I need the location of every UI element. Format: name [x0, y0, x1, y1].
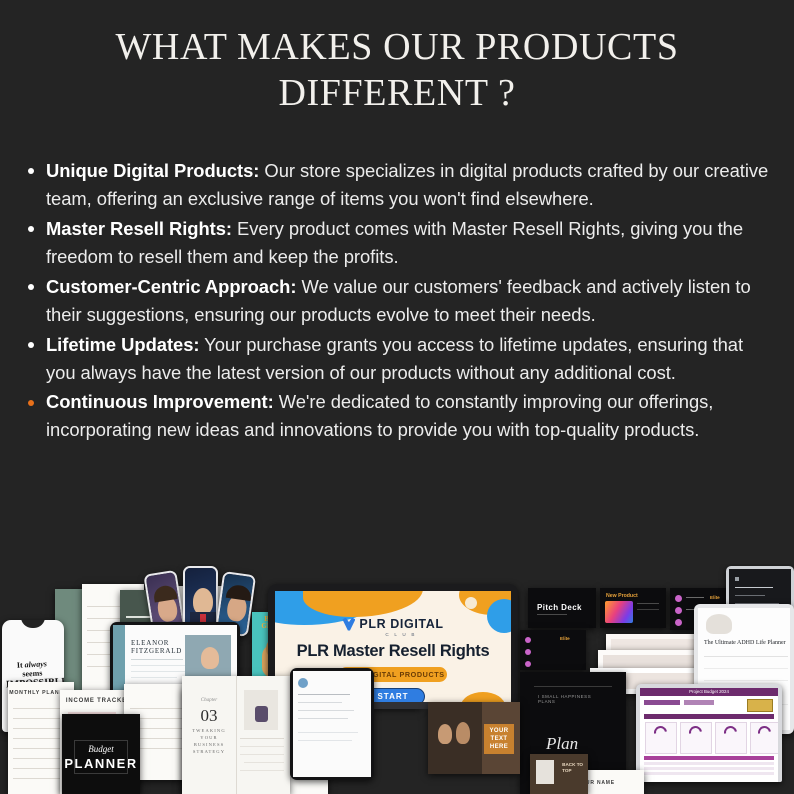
collage-slide-pitch-deck: Pitch Deck — [528, 588, 596, 628]
collage-spreadsheet-title: Project Budget 2024 — [689, 689, 729, 694]
plr-logo-word: PLR DIGITAL — [359, 617, 443, 631]
collage-spreadsheet-screen: Project Budget 2024 — [640, 688, 778, 782]
list-item: Continuous Improvement: We're dedicated … — [22, 388, 772, 444]
title-line-2: DIFFERENT ? — [0, 70, 794, 116]
plr-mark-icon — [342, 618, 355, 631]
list-item-lead: Lifetime Updates: — [46, 334, 199, 355]
bullet-marker-icon — [28, 226, 34, 232]
bullet-marker-icon — [28, 168, 34, 174]
title-line-1: WHAT MAKES OUR PRODUCTS — [0, 24, 794, 70]
list-item-lead: Continuous Improvement: — [46, 391, 274, 412]
bullet-marker-icon — [28, 284, 34, 290]
collage-gradient-card — [605, 601, 633, 623]
collage-magazine-name: ELEANOR FITZGERALD — [131, 639, 189, 656]
collage-slide-title: Pitch Deck — [537, 603, 582, 612]
feature-list: Unique Digital Products: Our store speci… — [22, 157, 772, 445]
decorative-blob-bottom-2 — [461, 692, 505, 702]
collage-open-book: Chapter 03 TWEAKING YOUR BUSINESS STRATE… — [182, 676, 290, 794]
collage-tablet-title: The Ultimate ADHD Life Planner — [704, 640, 790, 646]
list-item: Unique Digital Products: Our store speci… — [22, 157, 772, 213]
promo-page: WHAT MAKES OUR PRODUCTS DIFFERENT ? Uniq… — [0, 0, 794, 794]
list-item: Master Resell Rights: Every product come… — [22, 215, 772, 271]
bullet-marker-icon — [28, 400, 34, 406]
collage-macbook-spreadsheet: Project Budget 2024 — [636, 684, 782, 782]
collage-slide-new-product: New Product — [600, 588, 666, 628]
collage-spreadsheet-header: Project Budget 2024 — [640, 688, 778, 696]
list-item-lead: Customer-Centric Approach: — [46, 276, 296, 297]
plr-headline: PLR Master Resell Rights — [275, 642, 511, 661]
collage-card-bottom-left: BACK TOTOP — [530, 754, 588, 794]
collage-book-caption: TWEAKING YOUR BUSINESS STRATEGY — [187, 728, 231, 756]
collage-tablet-doc — [290, 668, 374, 780]
list-item-lead: Master Resell Rights: — [46, 218, 232, 239]
list-item: Customer-Centric Approach: We value our … — [22, 273, 772, 329]
bullet-marker-icon — [28, 342, 34, 348]
list-item-lead: Unique Digital Products: — [46, 160, 259, 181]
product-collage: TheTeam CrazySale BEST DOGGROOMING — [0, 564, 794, 794]
collage-slide-subtitle: New Product — [606, 593, 638, 599]
plr-logo-sub: C L U B — [291, 632, 511, 637]
page-title: WHAT MAKES OUR PRODUCTS DIFFERENT ? — [0, 0, 794, 117]
collage-budget-planner: Budget PLANNER — [62, 714, 140, 794]
collage-plan-script: Plan — [546, 734, 578, 754]
decorative-blob-cream — [465, 597, 477, 609]
collage-book-number: 03 — [185, 706, 233, 726]
collage-card-your-text-here: YOUR TEXT HERE — [428, 702, 520, 774]
collage-slide-list-2: Elite — [520, 630, 586, 670]
collage-your-text-here-label: YOUR TEXT HERE — [484, 724, 514, 754]
list-item: Lifetime Updates: Your purchase grants y… — [22, 331, 772, 387]
